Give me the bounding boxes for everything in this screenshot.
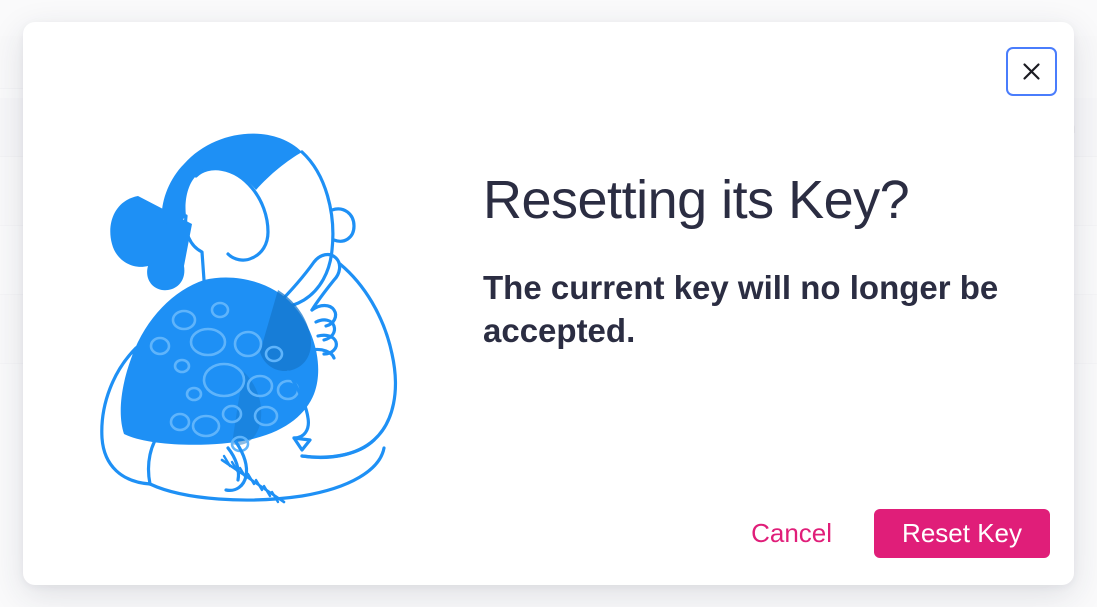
page-title: Resetting its Key? [483, 172, 1050, 229]
reset-key-modal: Resetting its Key? The current key will … [23, 22, 1074, 585]
modal-body: Resetting its Key? The current key will … [23, 22, 1074, 585]
cancel-button[interactable]: Cancel [749, 512, 834, 555]
thinking-person-illustration [23, 22, 483, 585]
modal-subtitle: The current key will no longer be accept… [483, 267, 1003, 353]
modal-actions: Cancel Reset Key [749, 509, 1050, 558]
modal-text-column: Resetting its Key? The current key will … [483, 22, 1074, 352]
reset-key-button[interactable]: Reset Key [874, 509, 1050, 558]
